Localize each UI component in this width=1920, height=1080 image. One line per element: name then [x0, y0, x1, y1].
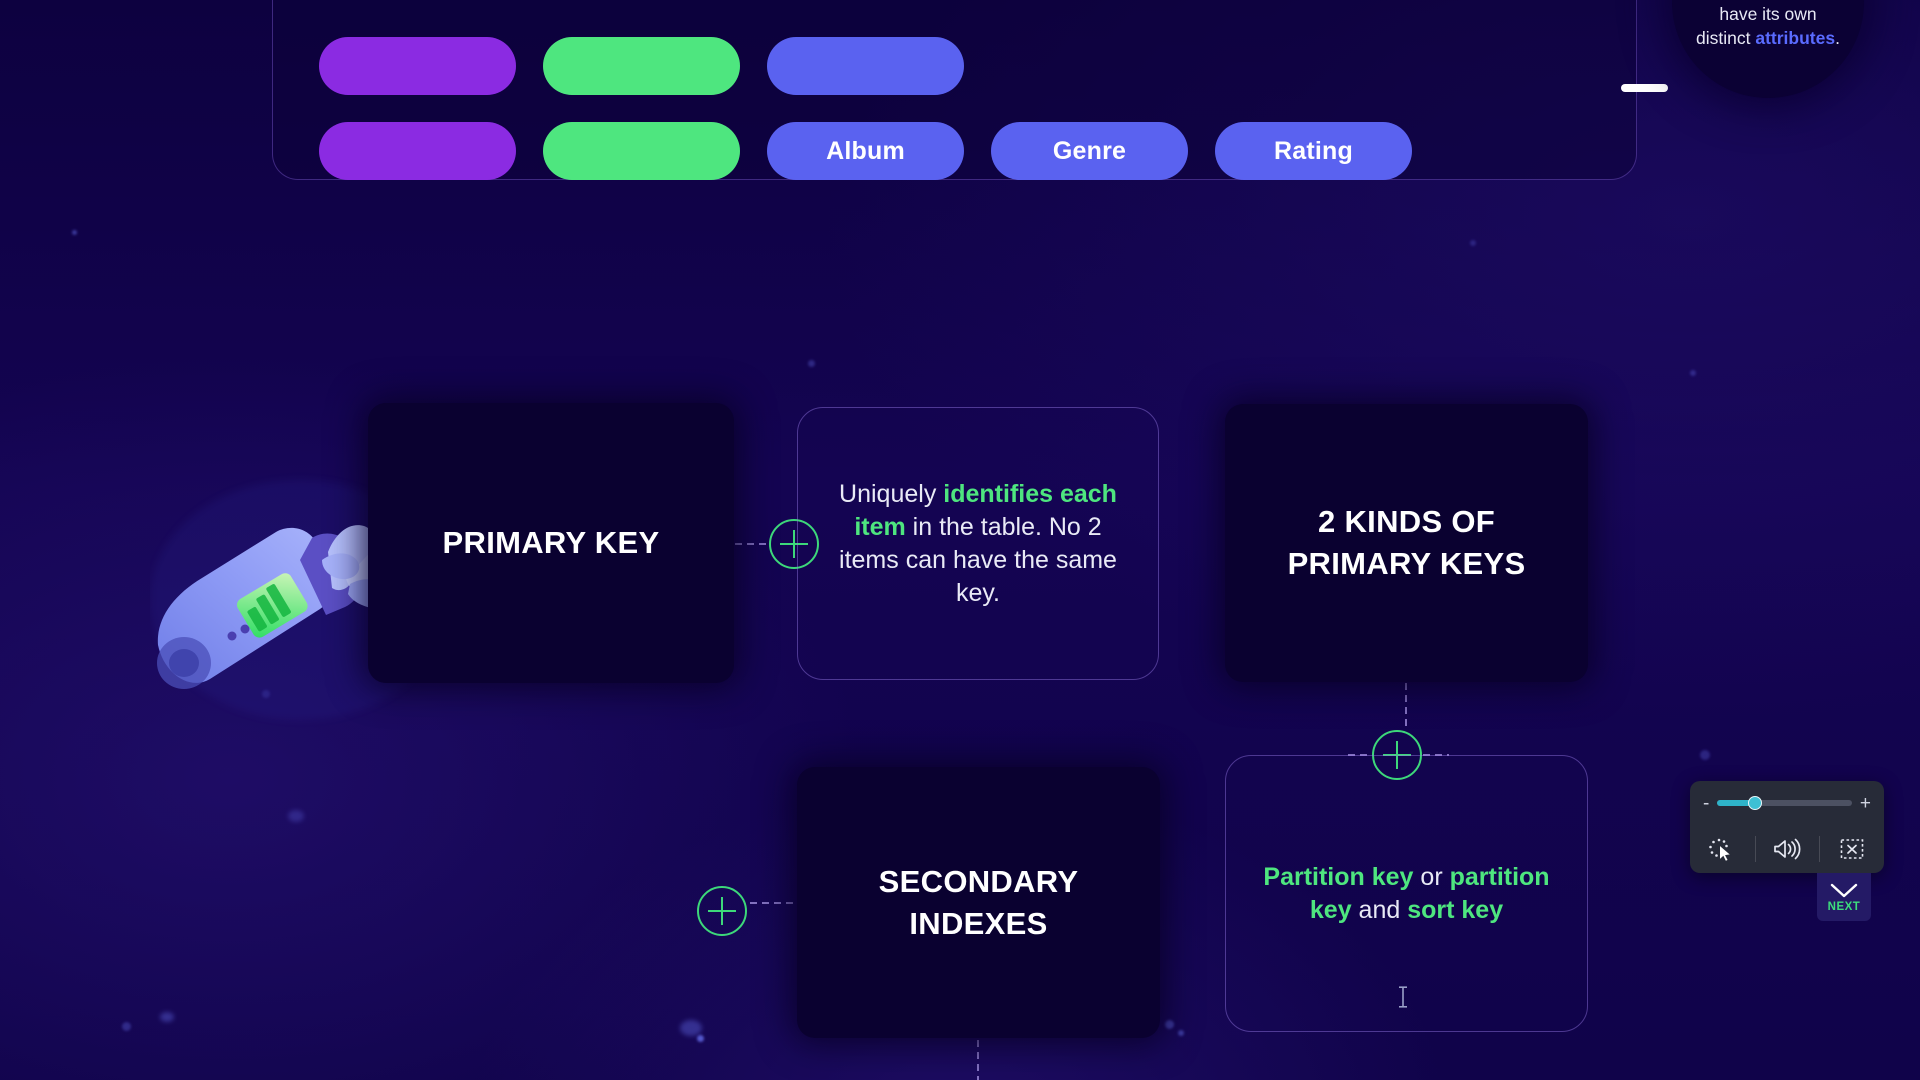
- attribute-pill-song[interactable]: [543, 37, 740, 95]
- two-kinds-line2: PRIMARY KEYS: [1288, 543, 1526, 585]
- items-line3-prefix: distinct: [1696, 28, 1755, 48]
- card-secondary-indexes-title: SECONDARY INDEXES: [879, 861, 1079, 945]
- items-connector-line: [1621, 84, 1668, 92]
- zoom-in-button[interactable]: +: [1860, 794, 1871, 813]
- cursor-highlight-button[interactable]: [1690, 825, 1755, 873]
- tool-button-row: [1690, 825, 1884, 873]
- items-line3-keyword: attributes: [1755, 28, 1835, 48]
- pill-label: Genre: [1053, 137, 1126, 166]
- zoom-slider-thumb[interactable]: [1748, 796, 1762, 810]
- attributes-panel: Album Genre Rating: [272, 0, 1637, 180]
- items-callout-line2: have its own: [1719, 2, 1816, 26]
- zoom-control-row[interactable]: - +: [1690, 781, 1884, 825]
- card-primary-key-title: PRIMARY KEY: [443, 522, 660, 564]
- cursor-highlight-icon: [1707, 836, 1737, 862]
- card-two-kinds-title: 2 KINDS OF PRIMARY KEYS: [1288, 501, 1526, 585]
- card-uniquely-identifies[interactable]: Uniquely identifies each item in the tab…: [797, 407, 1159, 680]
- uniquely-prefix: Uniquely: [839, 480, 943, 508]
- pill-label: Rating: [1274, 137, 1353, 166]
- attribute-pill-genre[interactable]: Genre: [991, 122, 1188, 180]
- two-kinds-line1: 2 KINDS OF: [1288, 501, 1526, 543]
- zoom-out-button[interactable]: -: [1703, 794, 1709, 813]
- card-primary-key[interactable]: PRIMARY KEY: [368, 403, 734, 683]
- plus-icon-secondary-indexes[interactable]: [697, 886, 747, 936]
- hide-selection-icon: [1839, 837, 1865, 861]
- secondary-line1: SECONDARY: [879, 861, 1079, 903]
- next-slide-button[interactable]: NEXT: [1817, 873, 1871, 921]
- connector-primary-key-to-plus: [735, 543, 767, 545]
- card-secondary-indexes[interactable]: SECONDARY INDEXES: [797, 767, 1160, 1038]
- card-two-kinds-of-primary-keys[interactable]: 2 KINDS OF PRIMARY KEYS: [1225, 404, 1588, 682]
- sound-icon: [1772, 837, 1802, 861]
- attribute-pill-song-2[interactable]: [543, 122, 740, 180]
- partition-mid-1: or: [1413, 863, 1449, 891]
- secondary-line2: INDEXES: [879, 903, 1079, 945]
- text-cursor-ibeam: [1396, 984, 1410, 1010]
- items-callout-line3: distinct attributes.: [1696, 26, 1840, 50]
- attribute-pill-row-2: Album Genre Rating: [319, 122, 1412, 180]
- zoom-slider-track[interactable]: [1717, 800, 1852, 806]
- card-partition-text: Partition key or partition key and sort …: [1226, 861, 1587, 927]
- partition-keyword-1: Partition key: [1263, 863, 1413, 891]
- partition-keyword-3: sort key: [1407, 896, 1503, 924]
- attribute-pill-artist-2[interactable]: [319, 122, 516, 180]
- partition-mid-2: and: [1352, 896, 1408, 924]
- connector-plus-to-secondary: [750, 902, 795, 904]
- playback-toolbar[interactable]: - +: [1690, 781, 1884, 873]
- chevron-down-icon: [1829, 882, 1859, 899]
- attribute-pill-album[interactable]: Album: [767, 122, 964, 180]
- connector-two-kinds-to-plus: [1405, 683, 1407, 729]
- card-uniquely-text: Uniquely identifies each item in the tab…: [798, 478, 1158, 610]
- attribute-pill-extra-1[interactable]: [767, 37, 964, 95]
- attribute-pill-rating[interactable]: Rating: [1215, 122, 1412, 180]
- attribute-pill-artist[interactable]: [319, 37, 516, 95]
- items-line3-suffix: .: [1835, 28, 1840, 48]
- connector-secondary-downward: [977, 1040, 979, 1080]
- attribute-pill-row-1: [319, 37, 964, 95]
- hide-selection-button[interactable]: [1819, 825, 1884, 873]
- next-label: NEXT: [1828, 901, 1861, 913]
- sound-button[interactable]: [1755, 825, 1820, 873]
- pill-label: Album: [826, 137, 905, 166]
